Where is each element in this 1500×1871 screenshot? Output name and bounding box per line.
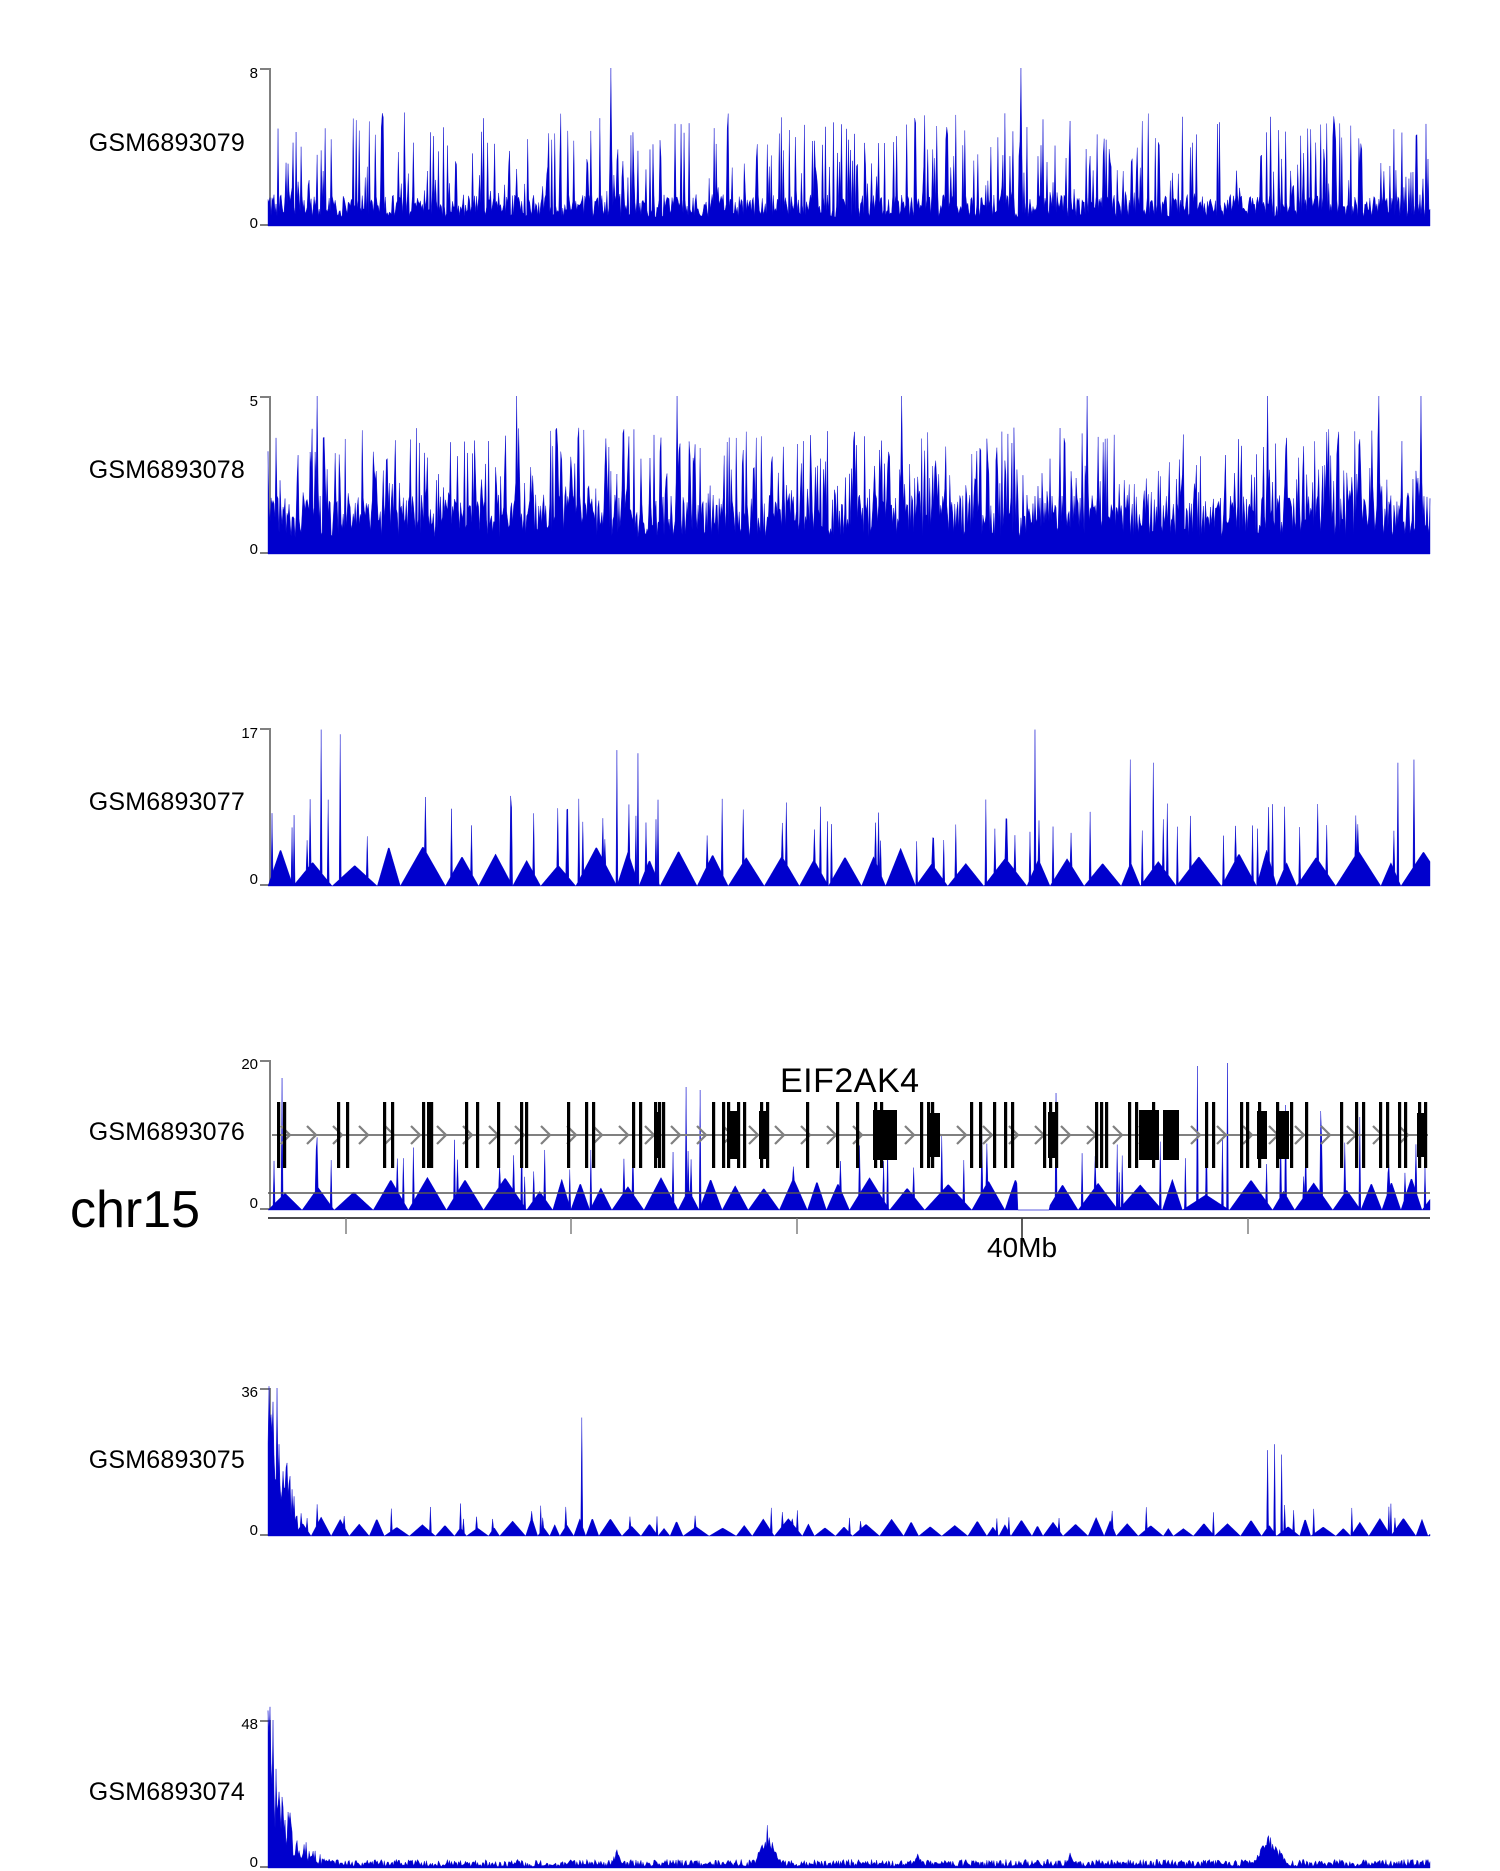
gene-model-track[interactable] — [0, 1060, 1500, 1200]
track-row-5: 36 0 GSM6893075 — [0, 694, 1500, 842]
track-1-axis-max: 8 — [198, 66, 258, 81]
track-row-2: 5 0 GSM6893078 — [0, 198, 1500, 356]
track-6-axis-max: 48 — [198, 1717, 258, 1732]
track-6-axis-min: 0 — [198, 1855, 258, 1870]
track-row-3: 17 0 GSM6893077 — [0, 364, 1500, 522]
coverage-area-6 — [268, 1707, 1430, 1868]
track-5-axis-max: 36 — [198, 1385, 258, 1400]
track-row-6: 48 0 GSM6893074 — [0, 860, 1500, 1008]
track-plot-6[interactable] — [268, 1720, 1430, 1868]
track-label-gsm6893079: GSM6893079 — [0, 129, 245, 158]
track-row-1: 8 0 GSM6893079 — [0, 34, 1500, 192]
genome-axis-graphic — [268, 1193, 1430, 1246]
genome-axis[interactable] — [0, 1185, 1500, 1305]
genome-browser-figure: 8 0 GSM6893079 5 0 GSM6893078 17 — [0, 0, 1500, 1320]
track-5-axis-min: 0 — [198, 1523, 258, 1538]
track-label-gsm6893075: GSM6893075 — [0, 1446, 245, 1475]
coverage-area-5 — [268, 1386, 1430, 1536]
gene-model-graphic — [272, 1102, 1428, 1168]
track-plot-5[interactable] — [268, 1388, 1430, 1536]
track-label-gsm6893074: GSM6893074 — [0, 1778, 245, 1807]
track-row-4: 20 0 GSM6893076 — [0, 530, 1500, 680]
axis-tick-label-40mb: 40Mb — [987, 1232, 1057, 1264]
